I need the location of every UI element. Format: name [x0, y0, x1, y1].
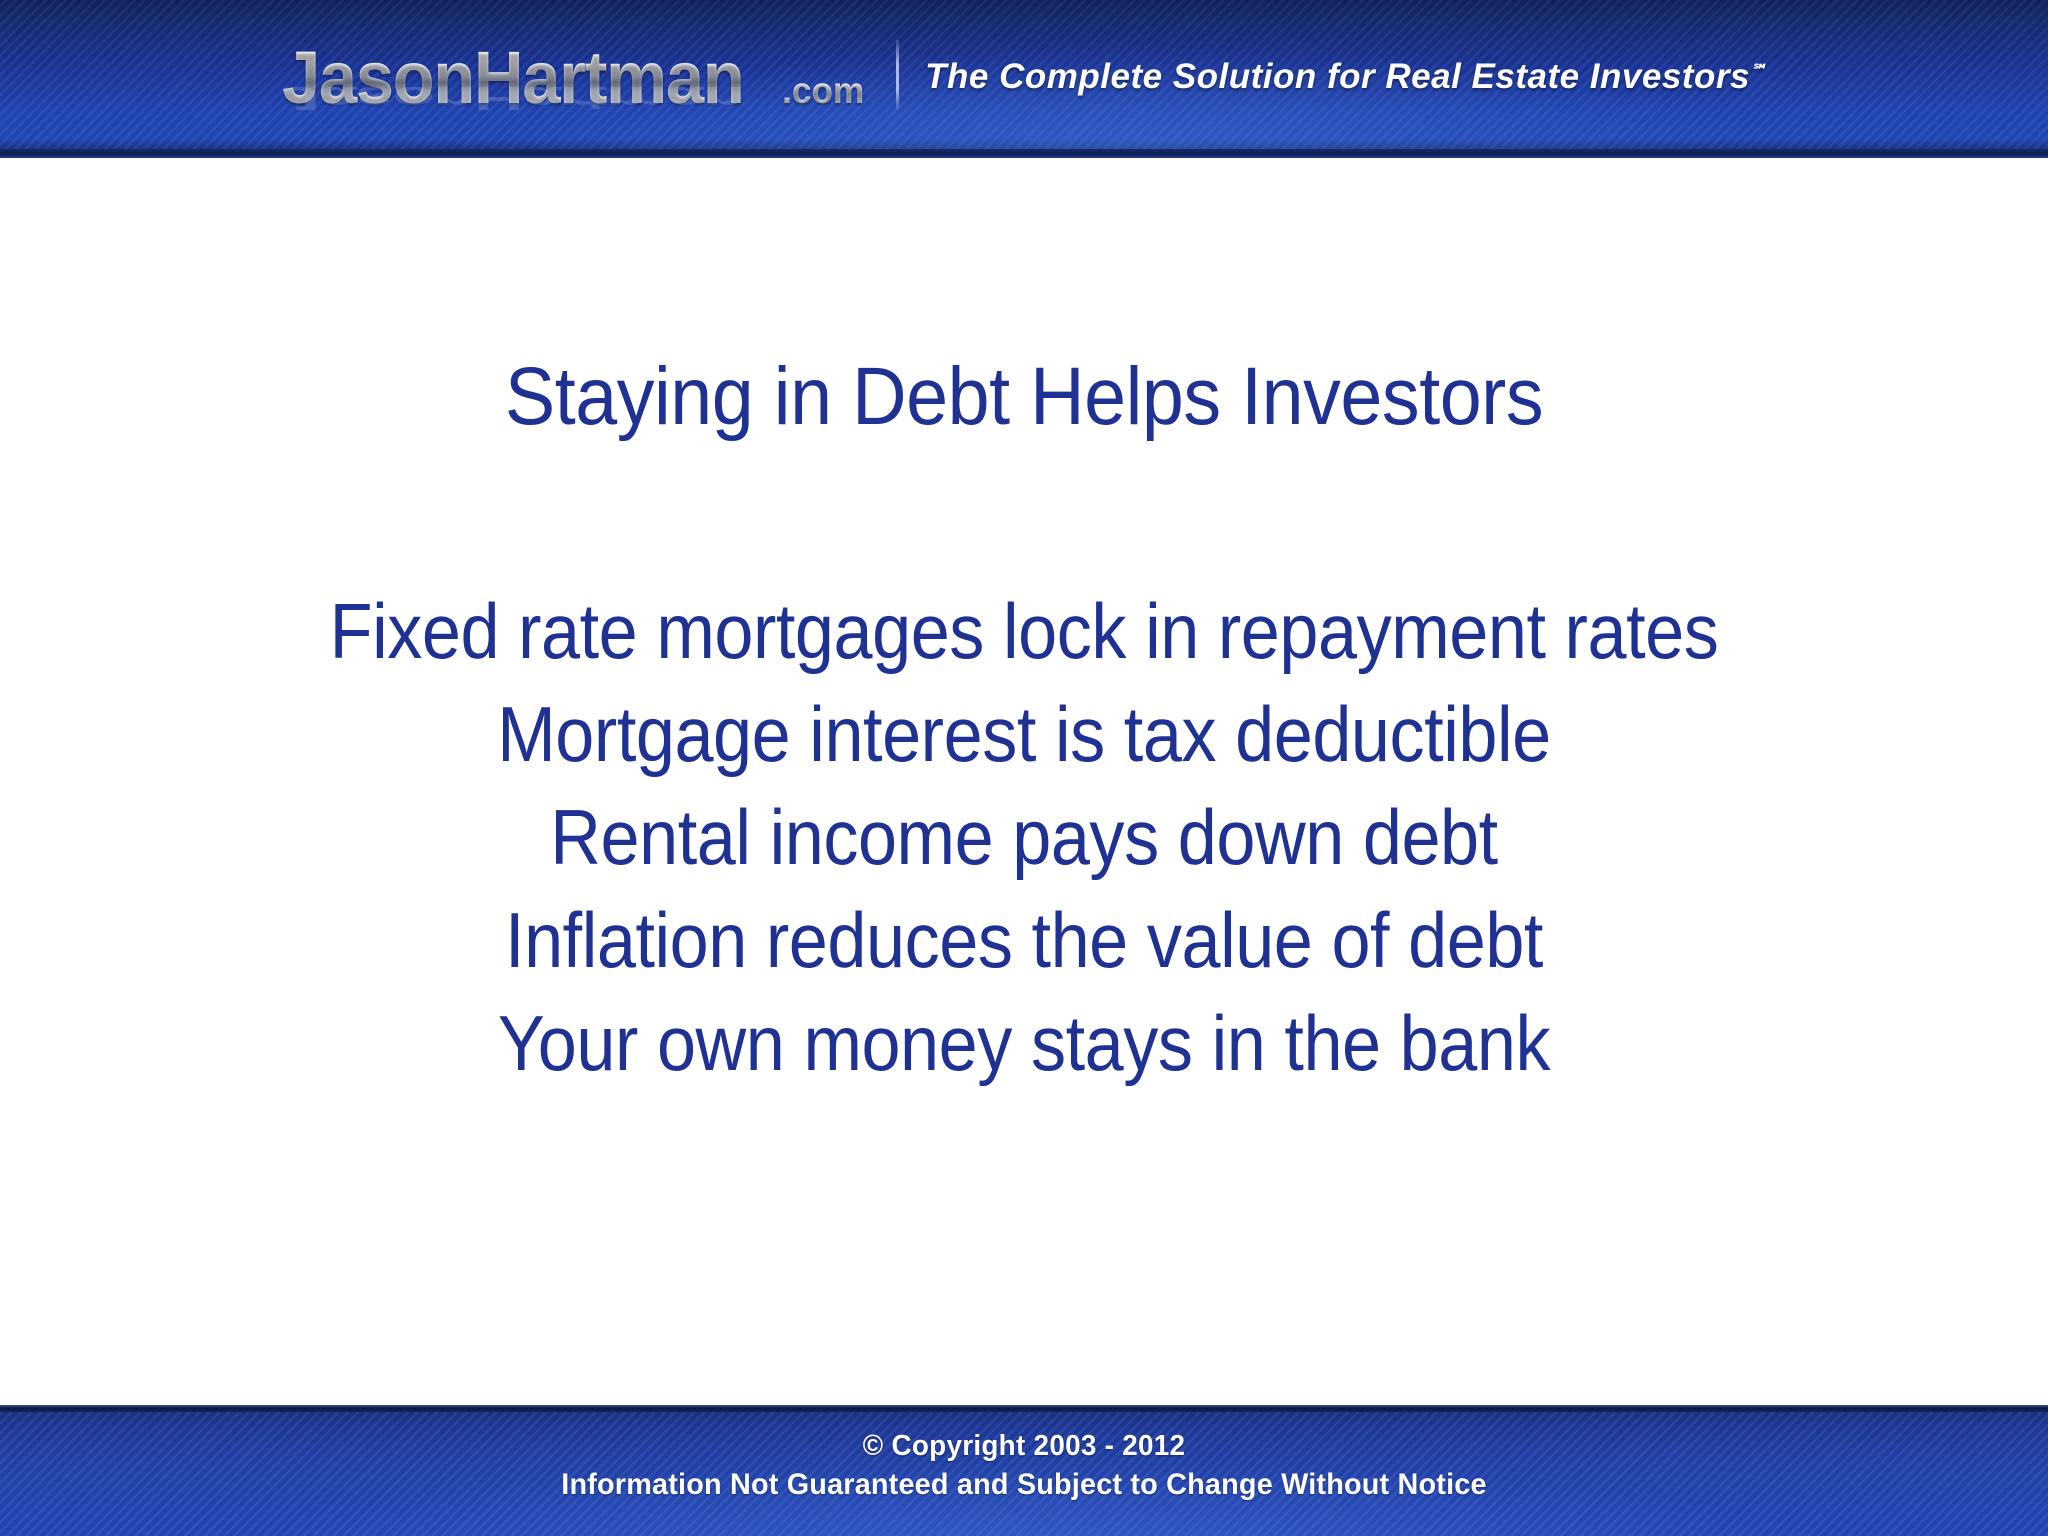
slide-header-band: JasonHartman .com JasonHartman The Compl… — [0, 0, 2048, 158]
body-line: Fixed rate mortgages lock in repayment r… — [102, 580, 1945, 683]
footer-content: © Copyright 2003 - 2012 Information Not … — [0, 1427, 2048, 1505]
presentation-slide: JasonHartman .com JasonHartman The Compl… — [0, 0, 2048, 1536]
brand-logo-tld: .com — [782, 70, 864, 112]
copyright-notice: © Copyright 2003 - 2012 — [41, 1427, 2007, 1465]
slide-footer-band: © Copyright 2003 - 2012 Information Not … — [0, 1405, 2048, 1536]
brand-logo-name: JasonHartman — [282, 41, 743, 115]
disclaimer-notice: Information Not Guaranteed and Subject t… — [41, 1465, 2007, 1505]
body-line: Rental income pays down debt — [102, 786, 1945, 889]
brand-logo[interactable]: JasonHartman .com JasonHartman — [282, 41, 866, 115]
brand-tagline: The Complete Solution for Real Estate In… — [925, 57, 1766, 97]
body-line: Your own money stays in the bank — [102, 992, 1945, 1095]
brand-tagline-text: The Complete Solution for Real Estate In… — [925, 57, 1750, 96]
slide-content: Staying in Debt Helps Investors Fixed ra… — [0, 158, 2048, 1405]
service-mark-icon: ℠ — [1750, 62, 1766, 79]
header-bottom-edge — [0, 149, 2048, 158]
slide-body: Fixed rate mortgages lock in repayment r… — [0, 580, 2048, 1095]
footer-top-edge — [0, 1405, 2048, 1412]
body-line: Inflation reduces the value of debt — [102, 889, 1945, 992]
header-divider — [896, 40, 899, 110]
page-title: Staying in Debt Helps Investors — [82, 354, 1966, 440]
header-content: JasonHartman .com JasonHartman The Compl… — [0, 0, 2048, 149]
body-line: Mortgage interest is tax deductible — [102, 683, 1945, 786]
